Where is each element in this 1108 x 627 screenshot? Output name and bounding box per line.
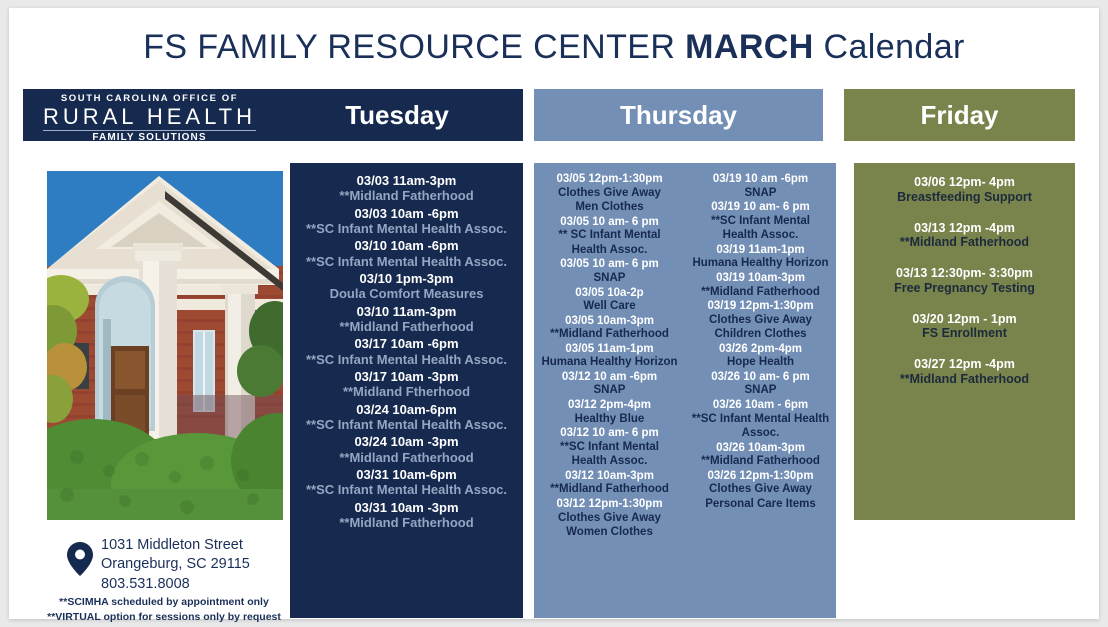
event-name: Health Assoc. (534, 244, 685, 258)
column-friday: 03/06 12pm- 4pmBreastfeeding Support03/1… (854, 163, 1075, 520)
calendar-event: Health Assoc. (685, 229, 836, 243)
event-datetime: 03/26 12pm-1:30pm (685, 470, 836, 484)
title-part2: Calendar (814, 28, 965, 66)
event-datetime: 03/27 12pm -4pm (854, 357, 1075, 372)
event-name: Men Clothes (534, 201, 685, 215)
event-datetime: 03/05 10a-2p (534, 287, 685, 301)
event-name: **Midland Fatherhood (534, 328, 685, 342)
calendar-event: Children Clothes (685, 328, 836, 342)
event-name: Clothes Give Away (685, 483, 836, 497)
event-name: Personal Care Items (685, 498, 836, 512)
calendar-event: Personal Care Items (685, 498, 836, 512)
event-datetime: 03/26 2pm-4pm (685, 343, 836, 357)
calendar-event: 03/20 12pm - 1pmFS Enrollment (854, 312, 1075, 342)
event-name: **SC Infant Mental Health Assoc. (290, 254, 523, 269)
event-name: **Midland Fatherhood (534, 483, 685, 497)
title-part1: FS FAMILY RESOURCE CENTER (143, 28, 685, 66)
calendar-event: 03/26 10am-3pm**Midland Fatherhood (685, 442, 836, 469)
event-name: **SC Infant Mental Health Assoc. (290, 352, 523, 367)
event-datetime: 03/20 12pm - 1pm (854, 312, 1075, 327)
calendar-event: 03/12 12pm-1:30pmClothes Give Away (534, 498, 685, 525)
calendar-event: 03/24 10am -3pm**Midland Fatherhood (290, 434, 523, 465)
event-datetime: 03/12 10 am -6pm (534, 371, 685, 385)
event-datetime: 03/31 10am -3pm (290, 500, 523, 515)
event-datetime: 03/26 10 am- 6 pm (685, 371, 836, 385)
column-thursday: 03/05 12pm-1:30pmClothes Give AwayMen Cl… (534, 163, 836, 618)
event-name: Clothes Give Away (534, 187, 685, 201)
event-datetime: 03/17 10am -6pm (290, 336, 523, 351)
header-friday-label: Friday (920, 100, 998, 131)
event-datetime: 03/13 12pm -4pm (854, 221, 1075, 236)
event-datetime: 03/10 1pm-3pm (290, 271, 523, 286)
event-datetime: 03/26 10am-3pm (685, 442, 836, 456)
event-name: Health Assoc. (534, 455, 685, 469)
logo-line-1: SOUTH CAROLINA OFFICE OF (37, 94, 262, 104)
column-thursday-left: 03/05 12pm-1:30pmClothes Give AwayMen Cl… (534, 163, 685, 618)
event-name: Hope Health (685, 356, 836, 370)
event-name: **SC Infant Mental Health Assoc. (290, 417, 523, 432)
calendar-event: Men Clothes (534, 201, 685, 215)
event-name: **Midland Fatherhood (290, 319, 523, 334)
event-name: **Midland Fatherhood (854, 235, 1075, 250)
event-name: SNAP (685, 384, 836, 398)
event-name: Clothes Give Away (534, 512, 685, 526)
calendar-event: 03/05 12pm-1:30pmClothes Give Away (534, 173, 685, 200)
event-name: Clothes Give Away (685, 314, 836, 328)
calendar-event: 03/05 10am-3pm**Midland Fatherhood (534, 315, 685, 342)
calendar-event: 03/10 11am-3pm**Midland Fatherhood (290, 304, 523, 335)
calendar-event: 03/10 10am -6pm**SC Infant Mental Health… (290, 238, 523, 269)
logo-line-2: RURAL HEALTH (37, 106, 262, 128)
header-tuesday-label: Tuesday (271, 100, 523, 131)
event-name: FS Enrollment (854, 326, 1075, 341)
calendar-event: 03/19 10 am -6pmSNAP (685, 173, 836, 200)
event-name: **SC Infant Mental (534, 441, 685, 455)
page-title: FS FAMILY RESOURCE CENTER MARCH Calendar (9, 28, 1099, 67)
calendar-event: 03/05 10 am- 6 pmSNAP (534, 258, 685, 285)
event-name: Women Clothes (534, 526, 685, 540)
header-friday: Friday (844, 89, 1075, 141)
calendar-event: Health Assoc. (534, 244, 685, 258)
calendar-event: 03/26 10am - 6pm**SC Infant Mental Healt… (685, 399, 836, 426)
calendar-event: 03/17 10am -6pm**SC Infant Mental Health… (290, 336, 523, 367)
event-name: **SC Infant Mental Health Assoc. (290, 221, 523, 236)
event-datetime: 03/12 2pm-4pm (534, 399, 685, 413)
event-name: **SC Infant Mental Health Assoc. (290, 482, 523, 497)
calendar-event: 03/13 12pm -4pm**Midland Fatherhood (854, 221, 1075, 251)
calendar-event: 03/03 10am -6pm**SC Infant Mental Health… (290, 206, 523, 237)
calendar-event: 03/26 12pm-1:30pmClothes Give Away (685, 470, 836, 497)
event-datetime: 03/12 10am-3pm (534, 470, 685, 484)
building-photo-illustration (47, 171, 283, 520)
header-thursday-label: Thursday (620, 100, 737, 131)
event-name: **Midland Fatherhood (685, 286, 836, 300)
address-block: 1031 Middleton Street Orangeburg, SC 291… (39, 536, 289, 624)
calendar-event: Women Clothes (534, 526, 685, 540)
event-name: Free Pregnancy Testing (854, 281, 1075, 296)
event-datetime: 03/24 10am-6pm (290, 402, 523, 417)
calendar-event: 03/31 10am-6pm**SC Infant Mental Health … (290, 467, 523, 498)
calendar-event: 03/19 10am-3pm**Midland Fatherhood (685, 272, 836, 299)
event-datetime: 03/13 12:30pm- 3:30pm (854, 266, 1075, 281)
event-datetime: 03/12 10 am- 6 pm (534, 427, 685, 441)
calendar-event: Assoc. (685, 427, 836, 441)
event-name: **SC Infant Mental Health (685, 413, 836, 427)
title-month: MARCH (685, 28, 814, 66)
calendar-event: 03/05 11am-1pmHumana Healthy Horizon (534, 343, 685, 370)
event-name: ** SC Infant Mental (534, 229, 685, 243)
event-datetime: 03/05 10am-3pm (534, 315, 685, 329)
event-datetime: 03/03 11am-3pm (290, 173, 523, 188)
event-datetime: 03/05 10 am- 6 pm (534, 258, 685, 272)
event-datetime: 03/10 11am-3pm (290, 304, 523, 319)
calendar-event: 03/19 10 am- 6 pm**SC Infant Mental (685, 201, 836, 228)
calendar-event: Health Assoc. (534, 455, 685, 469)
event-datetime: 03/31 10am-6pm (290, 467, 523, 482)
event-datetime: 03/06 12pm- 4pm (854, 175, 1075, 190)
event-name: Humana Healthy Horizon (685, 257, 836, 271)
event-name: Assoc. (685, 427, 836, 441)
event-name: **Midland Ftherhood (290, 384, 523, 399)
event-datetime: 03/12 12pm-1:30pm (534, 498, 685, 512)
calendar-event: 03/24 10am-6pm**SC Infant Mental Health … (290, 402, 523, 433)
event-datetime: 03/19 10 am -6pm (685, 173, 836, 187)
calendar-event: 03/05 10a-2pWell Care (534, 287, 685, 314)
calendar-event: 03/12 10 am -6pmSNAP (534, 371, 685, 398)
event-name: **SC Infant Mental (685, 215, 836, 229)
column-thursday-right: 03/19 10 am -6pmSNAP03/19 10 am- 6 pm**S… (685, 163, 836, 618)
event-datetime: 03/26 10am - 6pm (685, 399, 836, 413)
address-city: Orangeburg, SC 29115 (101, 555, 289, 574)
address-phone: 803.531.8008 (101, 575, 289, 594)
event-datetime: 03/10 10am -6pm (290, 238, 523, 253)
calendar-event: 03/31 10am -3pm**Midland Fatherhood (290, 500, 523, 531)
event-name: **Midland Fatherhood (290, 515, 523, 530)
event-name: Humana Healthy Horizon (534, 356, 685, 370)
calendar-event: 03/12 10 am- 6 pm**SC Infant Mental (534, 427, 685, 454)
column-tuesday: 03/03 11am-3pm**Midland Fatherhood03/03 … (290, 163, 523, 618)
event-datetime: 03/19 12pm-1:30pm (685, 300, 836, 314)
calendar-event: 03/26 10 am- 6 pmSNAP (685, 371, 836, 398)
calendar-event: 03/19 11am-1pmHumana Healthy Horizon (685, 244, 836, 271)
event-datetime: 03/03 10am -6pm (290, 206, 523, 221)
calendar-event: 03/12 10am-3pm**Midland Fatherhood (534, 470, 685, 497)
note-virtual: **VIRTUAL option for sessions only by re… (39, 610, 289, 624)
address-lines: 1031 Middleton Street Orangeburg, SC 291… (39, 536, 289, 594)
event-datetime: 03/05 12pm-1:30pm (534, 173, 685, 187)
building-photo (47, 171, 283, 520)
calendar-event: 03/05 10 am- 6 pm** SC Infant Mental (534, 216, 685, 243)
event-datetime: 03/19 11am-1pm (685, 244, 836, 258)
event-name: Well Care (534, 300, 685, 314)
event-name: SNAP (685, 187, 836, 201)
event-name: SNAP (534, 272, 685, 286)
header-thursday: Thursday (534, 89, 823, 141)
event-datetime: 03/19 10 am- 6 pm (685, 201, 836, 215)
calendar-event: 03/19 12pm-1:30pmClothes Give Away (685, 300, 836, 327)
event-name: **Midland Fatherhood (854, 372, 1075, 387)
address-street: 1031 Middleton Street (101, 536, 289, 555)
event-name: **Midland Fatherhood (290, 188, 523, 203)
event-name: Children Clothes (685, 328, 836, 342)
note-scimha: **SCIMHA scheduled by appointment only (39, 595, 289, 609)
event-datetime: 03/24 10am -3pm (290, 434, 523, 449)
event-name: Healthy Blue (534, 413, 685, 427)
calendar-event: 03/13 12:30pm- 3:30pmFree Pregnancy Test… (854, 266, 1075, 296)
event-name: **Midland Fatherhood (685, 455, 836, 469)
logo-line-3: FAMILY SOLUTIONS (37, 133, 262, 143)
event-name: **Midland Fatherhood (290, 450, 523, 465)
event-name: SNAP (534, 384, 685, 398)
organization-logo: SOUTH CAROLINA OFFICE OF RURAL HEALTH FA… (37, 94, 262, 138)
event-datetime: 03/05 10 am- 6 pm (534, 216, 685, 230)
calendar-event: 03/10 1pm-3pmDoula Comfort Measures (290, 271, 523, 302)
calendar-event: 03/06 12pm- 4pmBreastfeeding Support (854, 175, 1075, 205)
event-name: Breastfeeding Support (854, 190, 1075, 205)
location-pin-icon (67, 542, 93, 576)
calendar-event: 03/03 11am-3pm**Midland Fatherhood (290, 173, 523, 204)
event-datetime: 03/17 10am -3pm (290, 369, 523, 384)
event-name: Doula Comfort Measures (290, 286, 523, 301)
event-datetime: 03/05 11am-1pm (534, 343, 685, 357)
calendar-page: FS FAMILY RESOURCE CENTER MARCH Calendar… (9, 8, 1099, 619)
logo-divider (43, 130, 256, 131)
calendar-event: 03/26 2pm-4pmHope Health (685, 343, 836, 370)
event-name: Health Assoc. (685, 229, 836, 243)
calendar-event: 03/12 2pm-4pmHealthy Blue (534, 399, 685, 426)
calendar-event: 03/17 10am -3pm**Midland Ftherhood (290, 369, 523, 400)
event-datetime: 03/19 10am-3pm (685, 272, 836, 286)
calendar-event: 03/27 12pm -4pm**Midland Fatherhood (854, 357, 1075, 387)
